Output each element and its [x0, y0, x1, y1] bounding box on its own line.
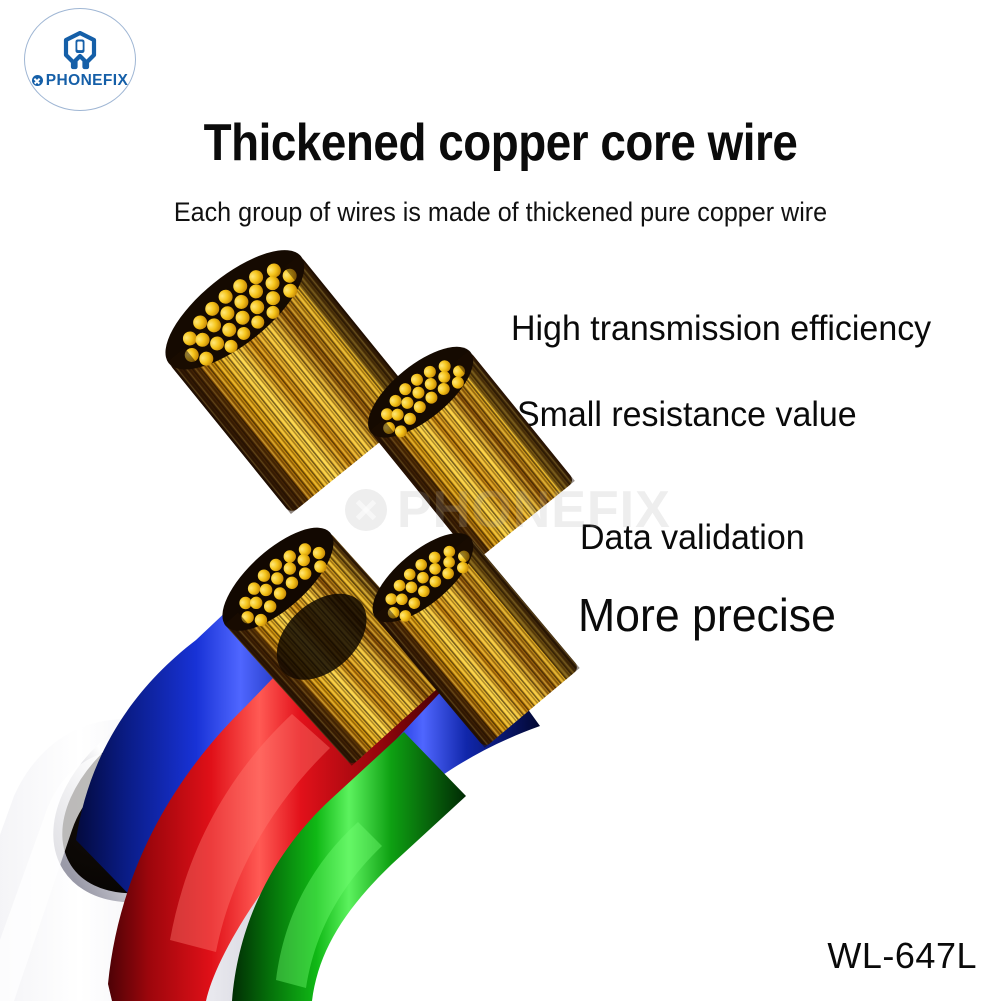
page-subtitle: Each group of wires is made of thickened… — [35, 197, 966, 228]
brand-name: PHONEFIX — [46, 73, 128, 89]
brand-logo: PHONEFIX — [24, 8, 136, 111]
logo-wordmark-row: PHONEFIX — [32, 73, 128, 89]
product-illustration — [0, 240, 620, 1001]
phone-in-shield-icon — [60, 31, 100, 71]
page-title: Thickened copper core wire — [60, 113, 941, 173]
circle-x-icon — [32, 75, 43, 86]
copper-bundle-top — [147, 240, 423, 514]
model-number: WL-647L — [827, 935, 977, 977]
